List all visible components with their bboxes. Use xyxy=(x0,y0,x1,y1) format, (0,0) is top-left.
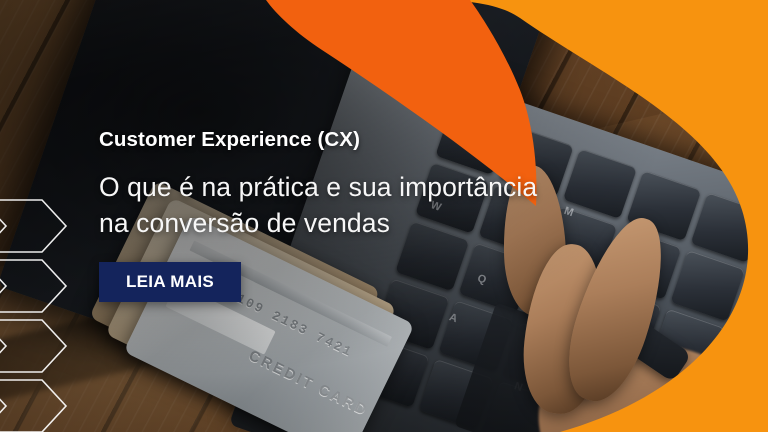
headline-line-1: O que é na prática e sua importância xyxy=(99,169,537,205)
headline-line-2: na conversão de vendas xyxy=(99,205,537,241)
banner-headline: O que é na prática e sua importância na … xyxy=(99,169,537,241)
chevron-right-icon xyxy=(0,320,66,372)
chevron-right-icon xyxy=(0,260,66,312)
banner-content: Customer Experience (CX) O que é na prát… xyxy=(99,0,719,432)
banner-kicker: Customer Experience (CX) xyxy=(99,128,360,152)
chevron-decoration-group xyxy=(0,196,110,432)
chevron-right-icon xyxy=(0,380,66,432)
read-more-button[interactable]: LEIA MAIS xyxy=(99,262,241,302)
chevron-right-icon xyxy=(0,200,66,252)
article-banner: W Q A M N 3856 5109 2183 7421 CREDIT CAR… xyxy=(0,0,768,432)
